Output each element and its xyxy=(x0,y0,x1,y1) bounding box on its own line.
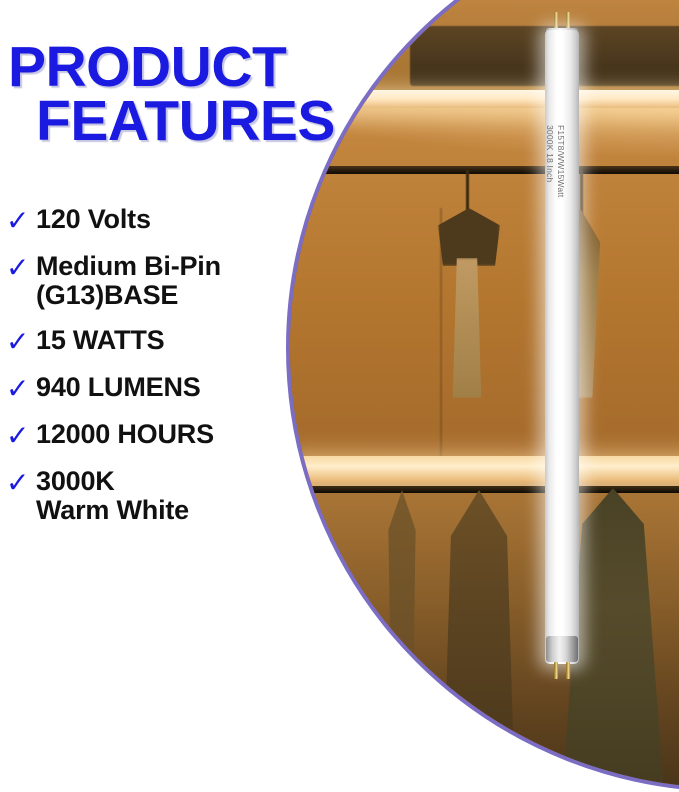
feature-label-line1: Medium Bi-Pin xyxy=(36,251,221,281)
lower-hanging-rod xyxy=(290,486,679,493)
page-title: PRODUCT FEATURES xyxy=(8,40,428,148)
check-icon: ✓ xyxy=(6,205,36,235)
feature-label-line2: (G13)BASE xyxy=(36,281,221,310)
page-title-line2: FEATURES xyxy=(8,94,428,148)
feature-label-line1: 120 Volts xyxy=(36,204,151,234)
check-icon: ✓ xyxy=(6,420,36,450)
feature-label-line1: 940 LUMENS xyxy=(36,372,201,402)
bi-pin-top-right xyxy=(566,12,570,29)
bi-pin-top-left xyxy=(554,12,558,29)
fluorescent-tube-product: F15T8/WW15Watt 3000K 18 Inch xyxy=(545,12,579,682)
tube-label-spec: 3000K 18 Inch xyxy=(545,125,555,182)
feature-label: 15 WATTS xyxy=(36,326,164,355)
check-icon: ✓ xyxy=(6,373,36,403)
tube-label-model: F15T8/WW15Watt xyxy=(556,125,566,197)
feature-label-line1: 3000K xyxy=(36,466,115,496)
feature-label-line1: 15 WATTS xyxy=(36,325,164,355)
feature-item-lumens: ✓ 940 LUMENS xyxy=(6,373,296,403)
middle-shelf-light xyxy=(290,456,679,482)
tube-end-cap-bottom xyxy=(546,636,578,662)
garment-hook xyxy=(466,170,469,214)
feature-label-line1: 12000 HOURS xyxy=(36,419,214,449)
check-icon: ✓ xyxy=(6,467,36,497)
feature-item-hours: ✓ 12000 HOURS xyxy=(6,420,296,450)
feature-list: ✓ 120 Volts ✓ Medium Bi-Pin (G13)BASE ✓ … xyxy=(6,205,296,550)
feature-label: 940 LUMENS xyxy=(36,373,201,402)
feature-label: 12000 HOURS xyxy=(36,420,214,449)
upper-hanging-rod xyxy=(290,166,679,174)
feature-item-color-temp: ✓ 3000K Warm White xyxy=(6,467,296,524)
tube-glass-body: F15T8/WW15Watt 3000K 18 Inch xyxy=(545,30,579,664)
feature-item-watts: ✓ 15 WATTS xyxy=(6,326,296,356)
feature-item-base: ✓ Medium Bi-Pin (G13)BASE xyxy=(6,252,296,309)
bi-pin-bottom-left xyxy=(554,662,558,679)
feature-label: 3000K Warm White xyxy=(36,467,189,524)
bi-pin-bottom-right xyxy=(566,662,570,679)
feature-label: Medium Bi-Pin (G13)BASE xyxy=(36,252,221,309)
feature-label: 120 Volts xyxy=(36,205,151,234)
feature-item-volts: ✓ 120 Volts xyxy=(6,205,296,235)
check-icon: ✓ xyxy=(6,326,36,356)
feature-label-line2: Warm White xyxy=(36,496,189,525)
check-icon: ✓ xyxy=(6,252,36,282)
